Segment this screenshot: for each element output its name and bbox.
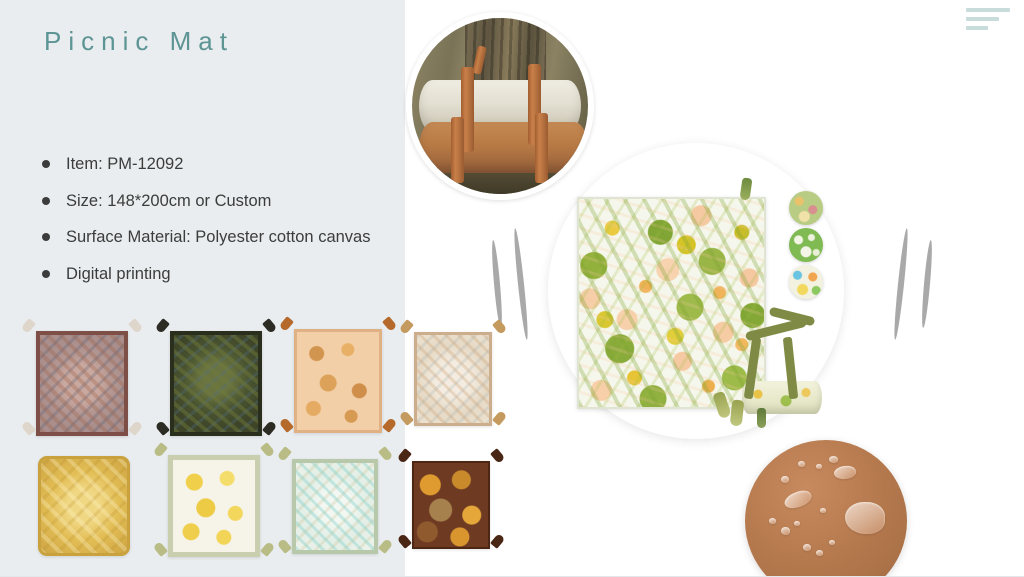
thumb-yellow-meadow[interactable]: [168, 455, 260, 557]
water-droplet: [816, 464, 822, 469]
thumb-gold-damask[interactable]: [38, 456, 130, 556]
product-slide: Picnic Mat Item: PM-12092 Size: 148*200c…: [0, 0, 1024, 577]
thumb-mint-paisley[interactable]: [292, 459, 378, 554]
spec-label-2: Surface Material: Polyester cotton canva…: [66, 228, 370, 246]
mat-surface: [168, 455, 260, 557]
spec-label-0: Item: PM-12092: [66, 155, 183, 173]
tan-rolled-mat: [419, 122, 588, 173]
mat-surface: [414, 332, 492, 426]
swatch-green-floral[interactable]: [789, 191, 823, 225]
leather-strap-lower-left: [451, 117, 464, 184]
tassel-icon: [492, 410, 507, 426]
water-droplet: [781, 527, 790, 535]
tassel-icon: [492, 319, 507, 335]
swatch-multi-floral[interactable]: [789, 265, 823, 299]
water-droplet: [794, 521, 800, 526]
water-droplet: [829, 540, 835, 545]
thumb-persian-rose[interactable]: [36, 331, 128, 436]
tassel-icon: [490, 448, 505, 464]
thumb-autumn-leaf[interactable]: [412, 461, 490, 549]
floral-leaf-overlay: [579, 199, 764, 407]
swatch-solid-green[interactable]: [789, 228, 823, 262]
page-title: Picnic Mat: [44, 26, 234, 57]
bullet-dot-icon: [42, 270, 50, 278]
mat-surface: [292, 459, 378, 554]
mat-surface: [170, 331, 262, 436]
water-droplet: [803, 544, 811, 551]
menu-line-3: [966, 26, 988, 30]
water-droplet: [820, 508, 826, 513]
water-droplet: [829, 456, 838, 463]
hamburger-menu-icon[interactable]: [966, 8, 1014, 35]
spec-list: Item: PM-12092 Size: 148*200cm or Custom…: [40, 152, 385, 298]
bullet-dot-icon: [42, 233, 50, 241]
spec-item-3: Digital printing: [40, 262, 385, 288]
bullet-dot-icon: [42, 197, 50, 205]
water-droplet: [798, 461, 805, 467]
spec-item-1: Size: 148*200cm or Custom: [40, 189, 385, 215]
thumb-cream-medallion[interactable]: [414, 332, 492, 426]
bracket-stroke-l1: [490, 240, 504, 328]
water-droplet: [781, 476, 789, 483]
spec-item-2: Surface Material: Polyester cotton canva…: [40, 225, 385, 251]
water-puddle-small: [782, 487, 814, 511]
water-droplet: [816, 550, 823, 556]
tassel-icon: [490, 533, 505, 549]
hero-picnic-mat-photo: [577, 197, 766, 409]
thumb-dark-floral[interactable]: [170, 331, 262, 436]
water-puddle-mid: [833, 464, 857, 480]
tassel-center: [757, 408, 766, 428]
rolled-photo-inner: [412, 18, 588, 194]
menu-line-1: [966, 8, 1010, 12]
rolled-picnic-mats-photo: [406, 12, 594, 200]
mat-surface: [38, 456, 130, 556]
bullet-dot-icon: [42, 160, 50, 168]
thumb-peach-blossom[interactable]: [294, 329, 382, 433]
leather-strap-lower-right: [535, 113, 548, 183]
water-droplet: [769, 518, 776, 524]
water-puddle-large: [845, 502, 885, 534]
mat-surface: [294, 329, 382, 433]
waterproof-demo-photo: [745, 440, 907, 577]
bracket-stroke-r2: [920, 240, 934, 328]
bracket-stroke-r1: [892, 228, 910, 340]
spec-item-0: Item: PM-12092: [40, 152, 385, 178]
spec-label-3: Digital printing: [66, 265, 171, 283]
spec-label-1: Size: 148*200cm or Custom: [66, 192, 271, 210]
mat-surface: [412, 461, 490, 549]
bracket-stroke-l2: [512, 228, 530, 340]
mat-surface: [36, 331, 128, 436]
menu-line-2: [966, 17, 999, 21]
